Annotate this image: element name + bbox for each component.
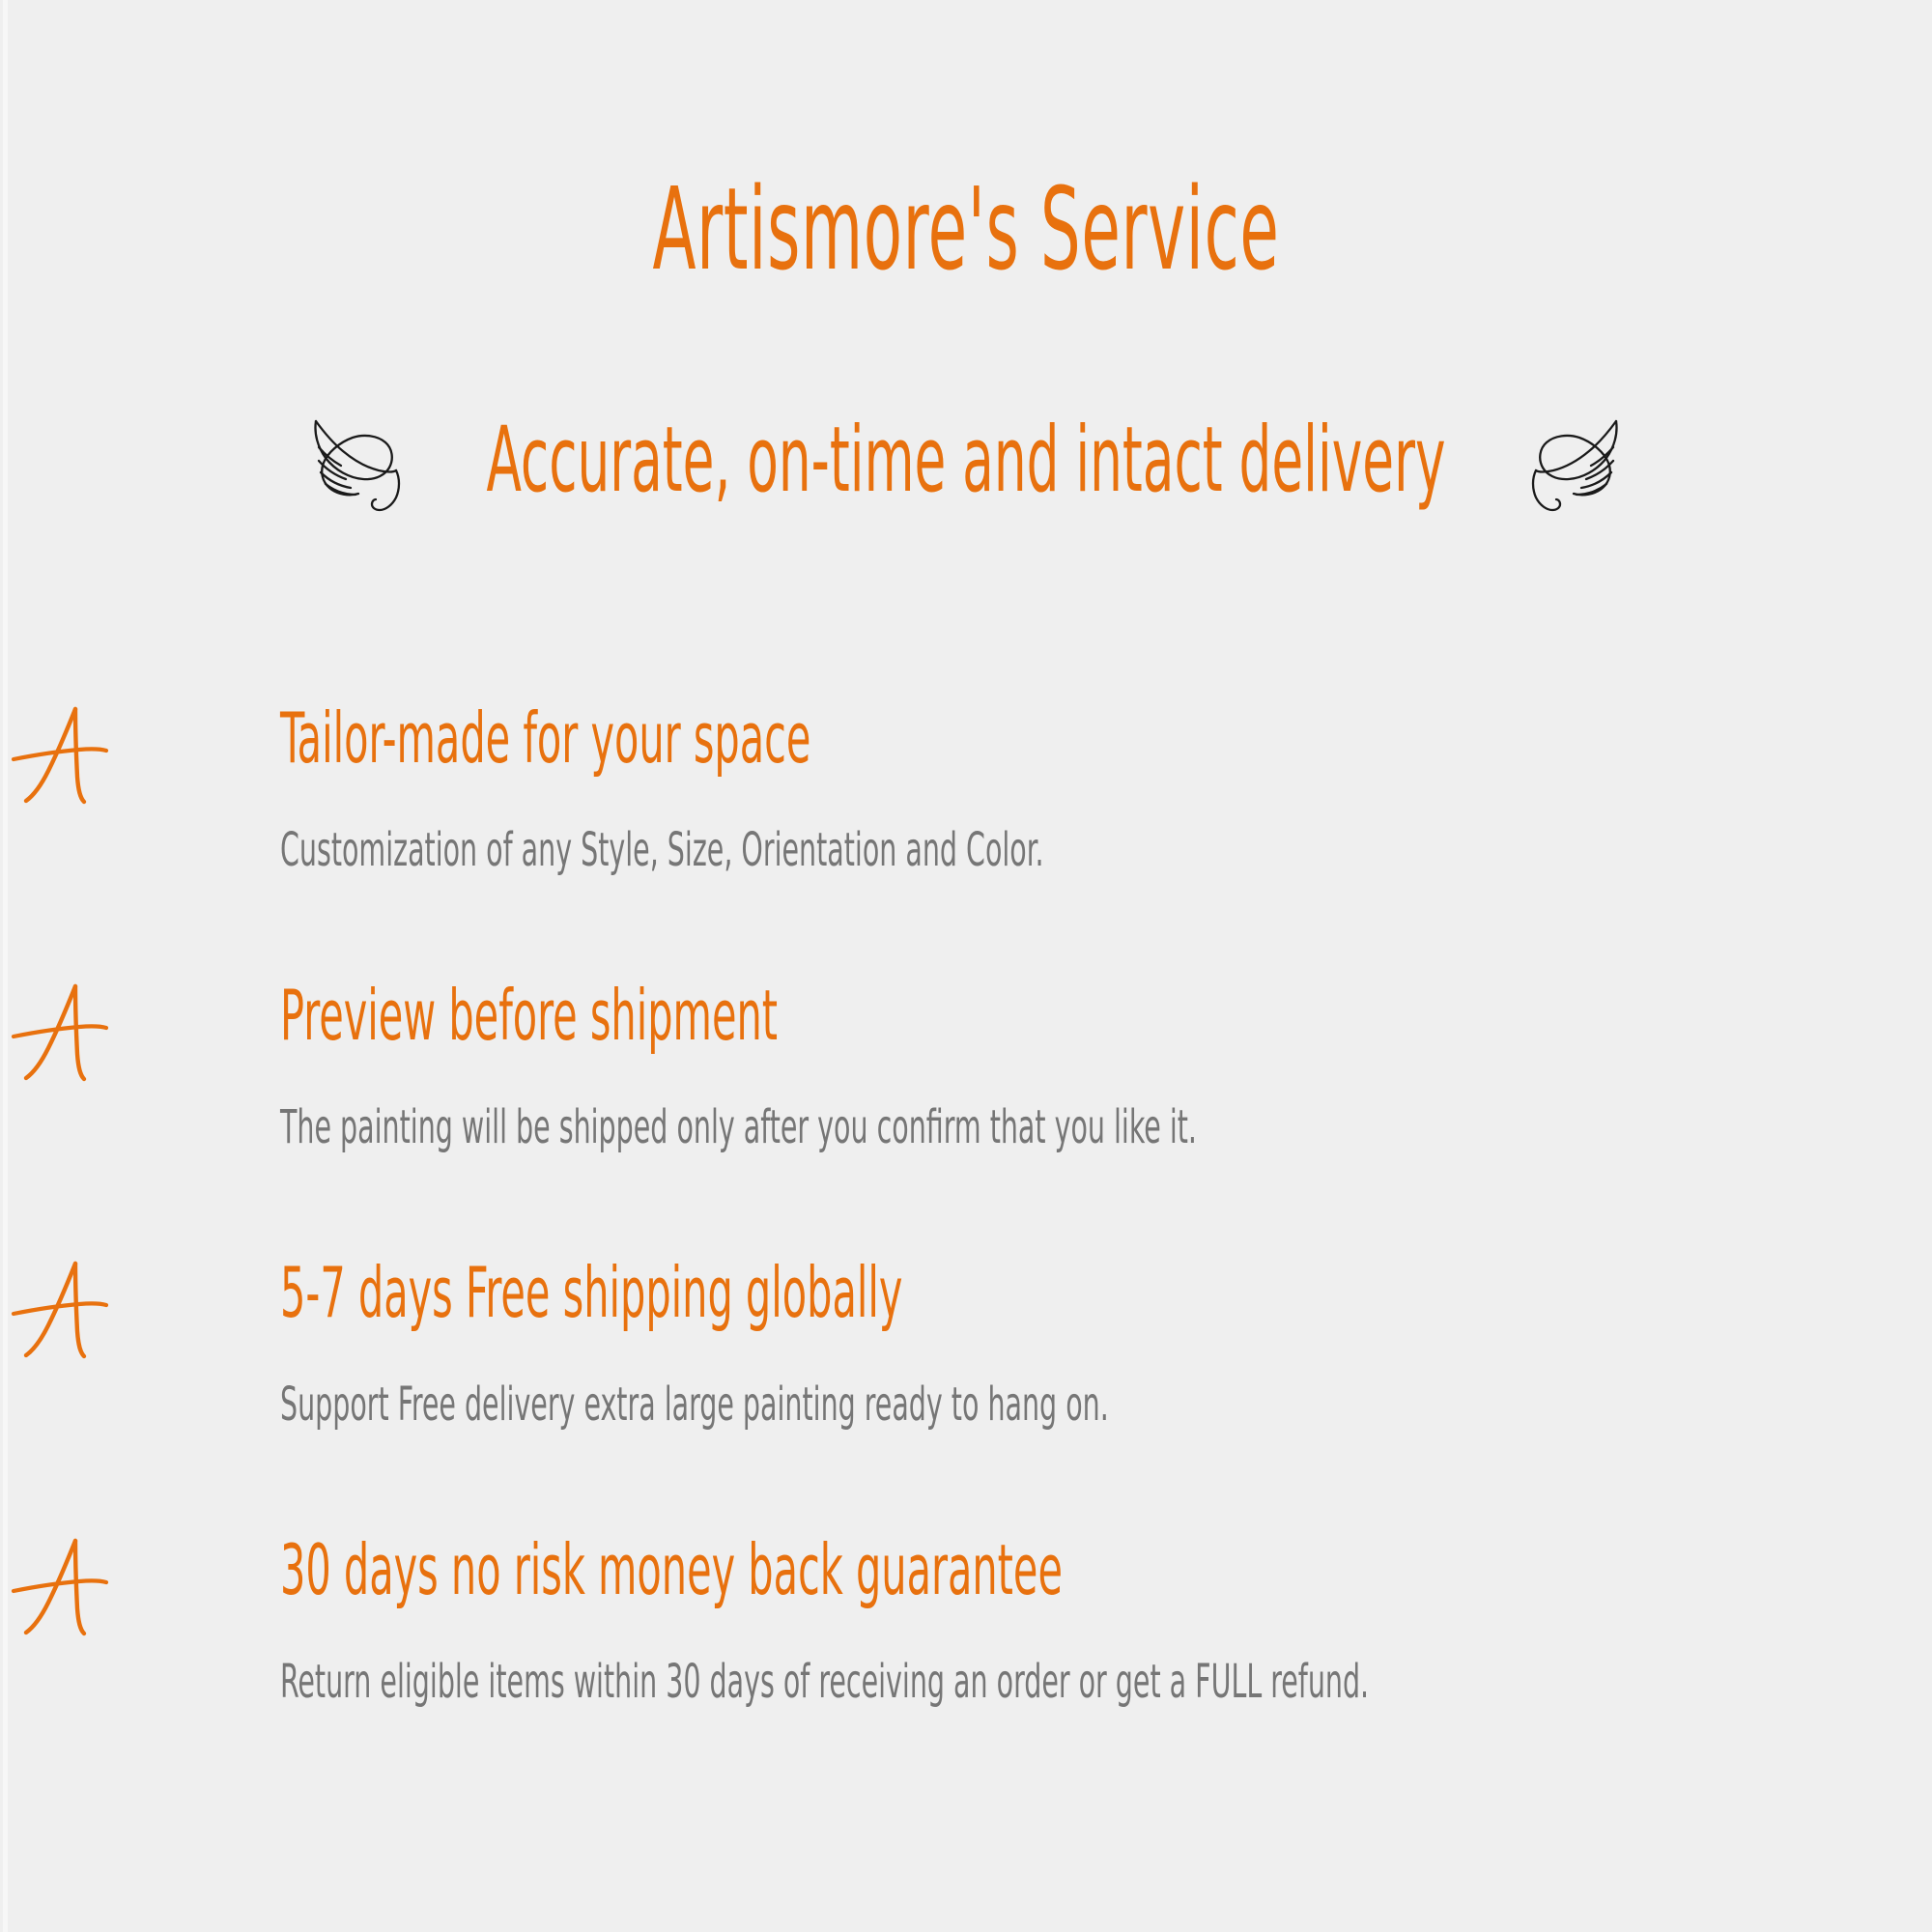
feature-description: Customization of any Style, Size, Orient…: [280, 773, 1371, 873]
feature-description: The painting will be shipped only after …: [280, 1050, 1371, 1151]
list-item: 5-7 days Free shipping globally Support …: [0, 1250, 1932, 1527]
script-a-icon: [0, 703, 126, 810]
feature-description: Return eligible items within 30 days of …: [280, 1605, 1371, 1705]
script-a-icon: [0, 980, 126, 1087]
feature-title: Preview before shipment: [280, 973, 1337, 1050]
script-a-icon: [0, 1535, 126, 1641]
feature-list: Tailor-made for your space Customization…: [0, 696, 1932, 1804]
wing-icon: [1521, 412, 1630, 521]
service-promo-page: Artismore's Service Accurate, on-time an…: [0, 0, 1932, 1932]
wing-icon: [302, 412, 411, 521]
list-item: Tailor-made for your space Customization…: [0, 696, 1932, 973]
subtitle-text: Accurate, on-time and intact delivery: [415, 413, 1517, 521]
script-a-icon: [0, 1258, 126, 1364]
page-title: Artismore's Service: [367, 172, 1565, 286]
feature-description: Support Free delivery extra large painti…: [280, 1327, 1371, 1428]
feature-title: Tailor-made for your space: [280, 696, 1337, 773]
subtitle-banner: Accurate, on-time and intact delivery: [0, 404, 1932, 529]
list-item: Preview before shipment The painting wil…: [0, 973, 1932, 1250]
feature-title: 5-7 days Free shipping globally: [280, 1250, 1337, 1327]
feature-title: 30 days no risk money back guarantee: [280, 1527, 1337, 1605]
list-item: 30 days no risk money back guarantee Ret…: [0, 1527, 1932, 1804]
